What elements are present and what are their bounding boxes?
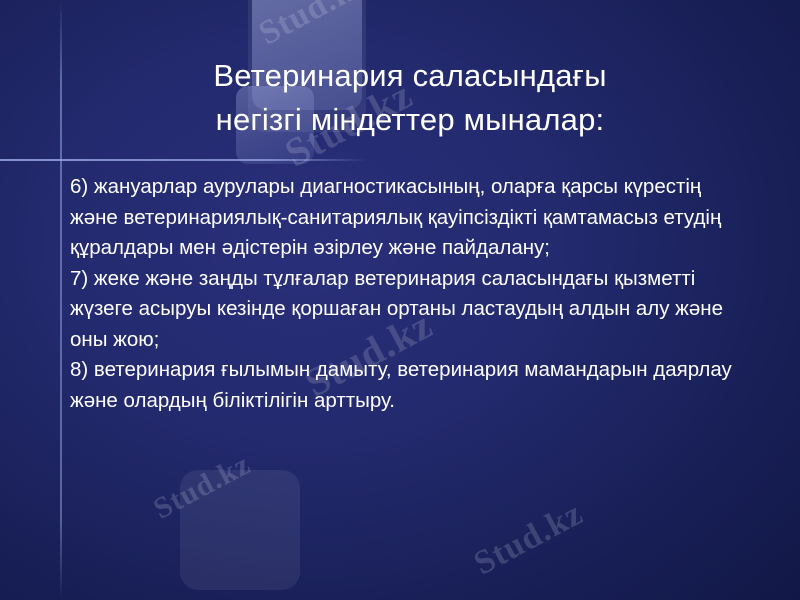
presentation-slide: Stud.kz Stud.kz Stud.kz Stud.kz Stud.kz … — [0, 0, 800, 600]
watermark-blob-bottom — [180, 470, 300, 590]
slide-body-text: 6) жануарлар аурулары диагностикасының, … — [70, 172, 750, 416]
watermark-text: Stud.kz — [468, 495, 590, 584]
horizontal-divider — [0, 159, 800, 161]
vertical-divider — [60, 0, 62, 600]
slide-title: Ветеринария саласындағы негізгі міндетте… — [70, 54, 750, 142]
